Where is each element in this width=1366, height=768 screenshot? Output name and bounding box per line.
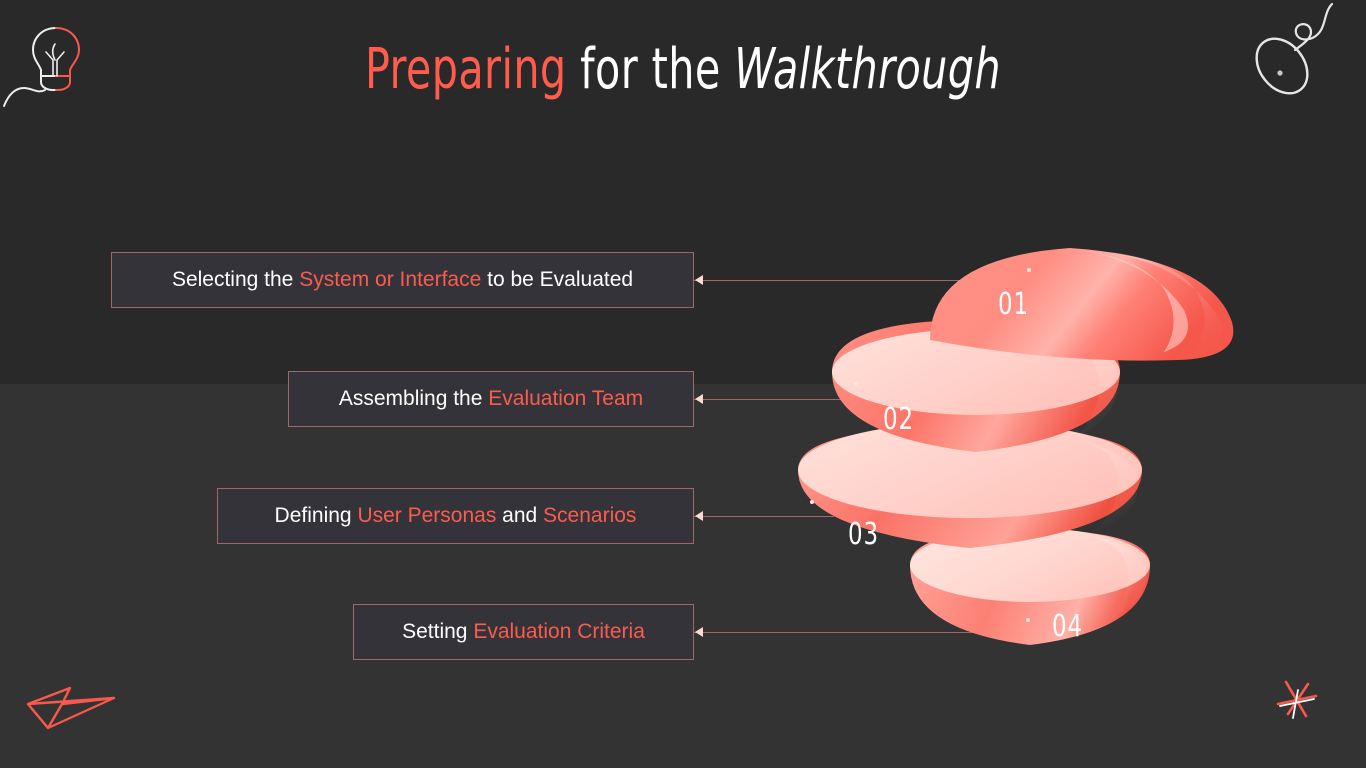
computer-mouse-icon bbox=[1240, 0, 1366, 106]
sparkle-icon bbox=[1262, 668, 1334, 740]
page-title: Preparing for the Walkthrough bbox=[123, 38, 1243, 102]
connector-arrow-icon bbox=[695, 511, 703, 521]
page-title-accent: Preparing bbox=[365, 37, 567, 102]
step-label-box-03[interactable]: Defining User Personas and Scenarios bbox=[217, 488, 694, 544]
step-label-box-01[interactable]: Selecting the System or Interface to be … bbox=[111, 252, 694, 308]
step-label-highlight: Evaluation Team bbox=[488, 387, 643, 410]
paper-plane-icon bbox=[22, 672, 126, 742]
sphere-slice-dot bbox=[854, 382, 858, 386]
sphere-slice-number-01: 01 bbox=[998, 290, 1029, 320]
page-title-italic: Walkthrough bbox=[734, 37, 1001, 102]
step-label-text: Setting Evaluation Criteria bbox=[402, 619, 645, 645]
sphere-slice-01 bbox=[930, 248, 1233, 361]
step-label-highlight: Scenarios bbox=[543, 504, 636, 527]
step-label-segment: Setting bbox=[402, 620, 473, 643]
step-label-highlight: System or Interface bbox=[299, 268, 481, 291]
step-label-text: Defining User Personas and Scenarios bbox=[275, 503, 637, 529]
sphere-slice-number-03: 03 bbox=[848, 520, 879, 550]
sphere-slice-number-02: 02 bbox=[883, 405, 914, 435]
connector-arrow-icon bbox=[695, 627, 703, 637]
sphere-slice-number-04: 04 bbox=[1052, 612, 1083, 642]
step-label-segment: Defining bbox=[275, 504, 358, 527]
step-label-highlight: Evaluation Criteria bbox=[473, 620, 645, 643]
step-label-highlight: User Personas bbox=[357, 504, 496, 527]
step-label-text: Assembling the Evaluation Team bbox=[339, 386, 643, 412]
step-label-segment: Assembling the bbox=[339, 387, 488, 410]
connector-arrow-icon bbox=[695, 275, 703, 285]
exploded-sphere-graphic: 01 02 03 04 bbox=[780, 230, 1260, 680]
step-label-box-04[interactable]: Setting Evaluation Criteria bbox=[353, 604, 694, 660]
step-label-segment: and bbox=[496, 504, 543, 527]
sphere-slice-dot bbox=[1027, 268, 1031, 272]
sphere-slice-04 bbox=[910, 528, 1150, 645]
sphere-slice-dot bbox=[810, 500, 814, 504]
step-label-segment: to be Evaluated bbox=[481, 268, 633, 291]
connector-arrow-icon bbox=[695, 394, 703, 404]
step-label-text: Selecting the System or Interface to be … bbox=[172, 267, 633, 293]
step-label-segment: Selecting the bbox=[172, 268, 299, 291]
page-title-plain: for the bbox=[567, 37, 735, 102]
lightbulb-icon bbox=[0, 8, 110, 118]
sphere-slice-dot bbox=[1026, 618, 1030, 622]
step-label-box-02[interactable]: Assembling the Evaluation Team bbox=[288, 371, 694, 427]
